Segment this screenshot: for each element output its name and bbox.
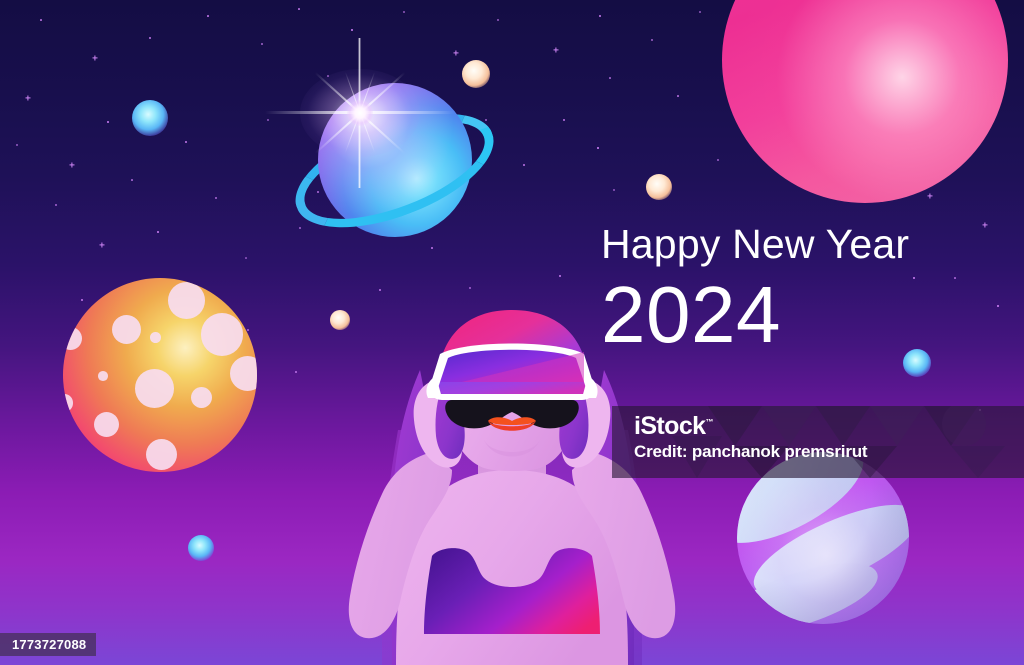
orb-blue-lower: [188, 535, 214, 561]
istock-watermark: iStock™ Credit: panchanok premsrirut: [612, 406, 1024, 478]
hand-left: [414, 381, 462, 467]
hair-cap: [438, 310, 588, 406]
istock-logo-text: iStock: [634, 412, 705, 440]
star: [298, 8, 300, 10]
headset-strap-left: [426, 376, 442, 398]
crater-spot: [191, 387, 212, 408]
star: [928, 194, 933, 199]
star: [954, 277, 956, 279]
star: [70, 163, 75, 168]
star: [107, 121, 108, 122]
star: [40, 19, 42, 21]
hair-back: [382, 370, 644, 665]
arm-left: [349, 452, 452, 638]
crater-spot: [146, 439, 177, 470]
star: [81, 299, 82, 300]
crater-spot: [98, 371, 108, 381]
star: [215, 197, 216, 198]
star: [26, 96, 31, 101]
crater-spot: [201, 313, 244, 356]
star: [55, 204, 56, 205]
chin-shade: [484, 440, 540, 457]
star: [131, 179, 133, 181]
watermark-credit: Credit: panchanok premsrirut: [634, 442, 867, 462]
lips: [488, 417, 536, 425]
face: [446, 318, 578, 471]
star: [597, 147, 598, 148]
star: [403, 11, 404, 12]
star: [613, 189, 614, 190]
headset-strap-right: [582, 376, 598, 398]
page-title: Happy New Year 2024: [601, 224, 909, 355]
star: [717, 159, 718, 160]
star: [699, 11, 700, 12]
star: [609, 77, 611, 79]
arm-right: [572, 452, 675, 638]
crater-spot: [63, 327, 82, 350]
crater-spot: [150, 332, 161, 343]
headset-shell: [430, 344, 595, 401]
star: [913, 277, 914, 278]
headset-visor-lower: [436, 382, 588, 394]
star: [651, 39, 652, 40]
crater-spot: [63, 394, 73, 411]
watermark-text: iStock™ Credit: panchanok premsrirut: [634, 413, 867, 462]
star: [93, 56, 98, 61]
star: [100, 243, 105, 248]
star: [157, 231, 158, 232]
planet-ringed: [260, 25, 530, 295]
headline-greeting: Happy New Year: [601, 224, 909, 265]
star: [247, 329, 248, 330]
orb-peach-lower: [330, 310, 351, 331]
planet-pink-large: [722, 0, 1008, 203]
trademark-symbol: ™: [705, 418, 713, 427]
star: [983, 223, 988, 228]
crop-top: [424, 548, 600, 634]
asset-id-badge: 1773727088: [0, 633, 96, 656]
hand-right: [562, 381, 610, 467]
star: [559, 275, 560, 276]
star: [677, 95, 679, 97]
istock-logo: iStock™: [634, 413, 713, 439]
planet-crater: [63, 278, 257, 472]
crater-spot: [230, 356, 257, 391]
hair-lock-left: [436, 372, 465, 459]
headset-lens: [445, 400, 579, 428]
crater-spot: [168, 282, 205, 319]
neck: [478, 430, 546, 509]
star: [563, 119, 564, 120]
star: [149, 37, 150, 38]
orb-peach-right: [646, 174, 672, 200]
star: [295, 371, 296, 372]
star: [554, 48, 559, 53]
lower-lip: [488, 421, 536, 431]
star: [497, 19, 498, 20]
orb-blue-left: [132, 100, 168, 136]
headline-year: 2024: [601, 275, 909, 355]
poster-canvas: Happy New Year 2024: [0, 0, 1024, 665]
crater-spot: [112, 315, 141, 344]
headset-visor-upper: [440, 350, 584, 382]
vr-headset: [426, 344, 597, 429]
crater-spot: [94, 412, 119, 437]
crater-spot: [135, 369, 174, 408]
star: [207, 15, 209, 17]
star: [245, 257, 247, 259]
torso: [396, 470, 628, 665]
star: [599, 15, 600, 16]
star: [185, 141, 186, 142]
star: [997, 305, 998, 306]
hair-lock-right: [559, 372, 588, 459]
star: [16, 144, 17, 145]
